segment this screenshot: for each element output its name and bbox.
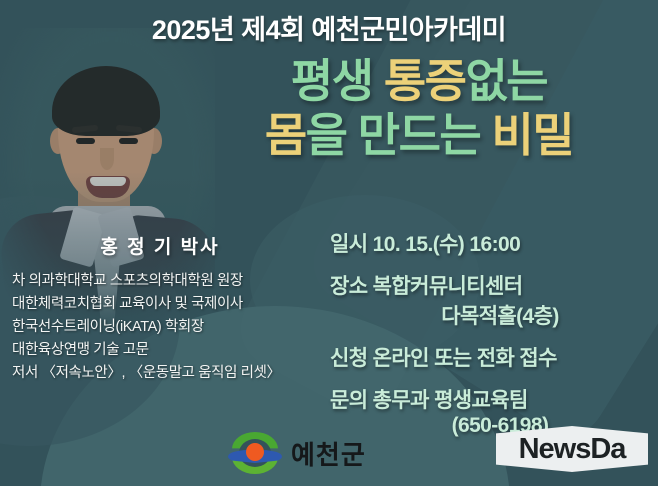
poster-headline: 평생 통증없는 몸을 만드는 비밀 bbox=[204, 54, 634, 163]
detail-line: 다목적홀(4층) bbox=[330, 300, 652, 330]
county-logo-text: 예천군 bbox=[291, 435, 366, 472]
headline-segment: 을 만드는 bbox=[306, 109, 492, 161]
detail-line: 일시 10. 15.(수) 16:00 bbox=[330, 228, 652, 258]
headline-segment: 몸 bbox=[265, 109, 306, 161]
speaker-credentials: 차 의과학대학교 스포츠의학대학원 원장 대한체력코치협회 교육이사 및 국제이… bbox=[12, 270, 322, 385]
headline-line-2: 몸을 만드는 비밀 bbox=[204, 108, 634, 162]
county-emblem-icon bbox=[228, 432, 282, 474]
headline-segment: 통증 bbox=[384, 55, 466, 107]
headline-segment: 평생 bbox=[291, 55, 384, 107]
yecheon-county-logo: 예천군 bbox=[228, 432, 366, 474]
detail-registration: 신청 온라인 또는 전화 접수 bbox=[330, 342, 652, 372]
detail-line: 신청 온라인 또는 전화 접수 bbox=[330, 342, 652, 372]
poster-kicker: 2025년 제4회 예천군민아카데미 bbox=[0, 8, 658, 47]
credential-line: 대한육상연맹 기술 고문 bbox=[12, 339, 322, 362]
credential-line: 차 의과학대학교 스포츠의학대학원 원장 bbox=[12, 270, 322, 293]
speaker-name: 홍 정 기 박사 bbox=[0, 232, 320, 259]
credential-line: 대한체력코치협회 교육이사 및 국제이사 bbox=[12, 293, 322, 316]
press-watermark: NewsDa bbox=[496, 426, 648, 472]
credential-line: 저서 〈저속노안〉, 〈운동말고 움직임 리셋〉 bbox=[12, 362, 322, 385]
headline-segment: 비밀 bbox=[492, 109, 574, 161]
detail-date: 일시 10. 15.(수) 16:00 bbox=[330, 228, 652, 258]
emblem-sun-dot-icon bbox=[246, 443, 264, 461]
detail-venue: 장소 복합커뮤니티센터 다목적홀(4층) bbox=[330, 270, 652, 330]
headline-line-1: 평생 통증없는 bbox=[204, 54, 634, 108]
watermark-text: NewsDa bbox=[519, 433, 626, 466]
event-poster: 2025년 제4회 예천군민아카데미 평생 통증없는 몸을 만드는 비밀 홍 정… bbox=[0, 0, 658, 486]
event-details: 일시 10. 15.(수) 16:00 장소 복합커뮤니티센터 다목적홀(4층)… bbox=[330, 228, 652, 450]
credential-line: 한국선수트레이닝(iKATA) 학회장 bbox=[12, 316, 322, 339]
detail-line: 장소 복합커뮤니티센터 bbox=[330, 270, 652, 300]
detail-line: 문의 총무과 평생교육팀 bbox=[330, 384, 652, 414]
headline-segment: 없는 bbox=[465, 55, 547, 107]
